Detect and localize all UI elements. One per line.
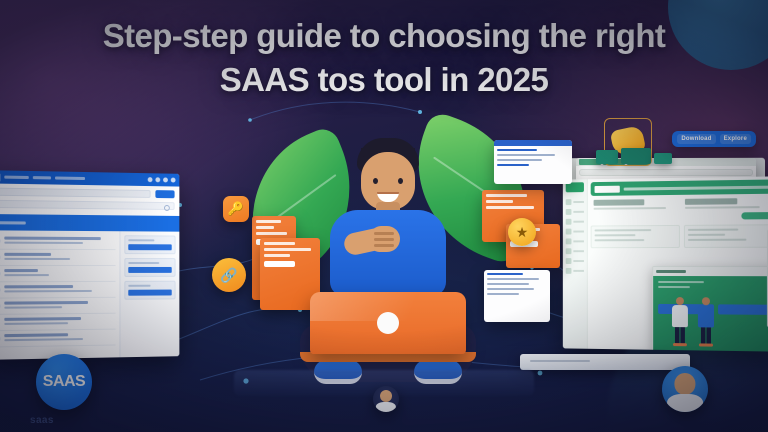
vignette-overlay [0, 0, 768, 432]
hero-graphic: Step-step guide to choosing the right SA… [0, 0, 768, 432]
